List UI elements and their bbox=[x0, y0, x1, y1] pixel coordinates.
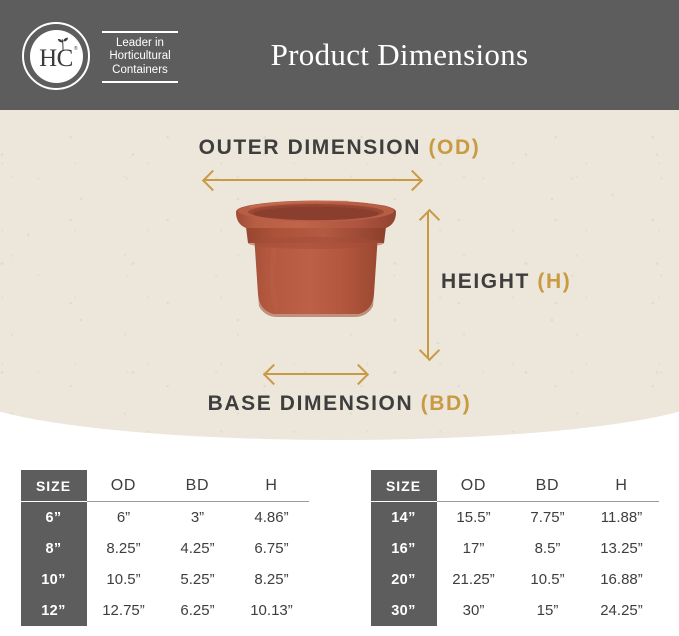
column-header-size: SIZE bbox=[21, 470, 87, 502]
table-row: 30”30”15”24.25” bbox=[371, 595, 659, 626]
height-arrow-icon bbox=[418, 212, 438, 358]
table-cell: 16.88” bbox=[585, 564, 659, 595]
table-row: 8”8.25”4.25”6.75” bbox=[21, 533, 309, 564]
table-cell: 6.75” bbox=[235, 533, 309, 564]
outer-dimension-arrow-icon bbox=[205, 170, 420, 190]
table-cell: 7.75” bbox=[511, 502, 585, 534]
row-size-label: 10” bbox=[21, 564, 87, 595]
table-cell: 10.5” bbox=[511, 564, 585, 595]
table-cell: 15.5” bbox=[437, 502, 511, 534]
column-header-od: OD bbox=[87, 470, 161, 502]
height-label: HEIGHT (H) bbox=[441, 270, 571, 294]
column-header-od: OD bbox=[437, 470, 511, 502]
brand-logo: HC ® Leader in Horticultural Containers bbox=[22, 22, 178, 90]
product-dimensions-infographic: HC ® Leader in Horticultural Containers bbox=[0, 0, 679, 636]
base-dimension-code: (BD) bbox=[421, 392, 472, 415]
table-cell: 8.5” bbox=[511, 533, 585, 564]
table-row: 6”6”3”4.86” bbox=[21, 502, 309, 534]
column-header-size: SIZE bbox=[371, 470, 437, 502]
base-dimension-text: BASE DIMENSION bbox=[208, 392, 414, 415]
table-cell: 17” bbox=[437, 533, 511, 564]
height-code: (H) bbox=[537, 270, 571, 293]
height-text: HEIGHT bbox=[441, 270, 530, 293]
table-cell: 10.5” bbox=[87, 564, 161, 595]
header-bar: HC ® Leader in Horticultural Containers bbox=[0, 0, 679, 110]
table-row: 12”12.75”6.25”10.13” bbox=[21, 595, 309, 626]
table-row: 20”21.25”10.5”16.88” bbox=[371, 564, 659, 595]
row-size-label: 20” bbox=[371, 564, 437, 595]
row-size-label: 12” bbox=[21, 595, 87, 626]
column-header-h: H bbox=[235, 470, 309, 502]
hc-logo-icon: HC ® bbox=[22, 22, 90, 90]
table-cell: 6.25” bbox=[161, 595, 235, 626]
row-size-label: 14” bbox=[371, 502, 437, 534]
column-header-bd: BD bbox=[511, 470, 585, 502]
tagline-line-2: Horticultural bbox=[109, 50, 170, 64]
table-cell: 3” bbox=[161, 502, 235, 534]
table-cell: 30” bbox=[437, 595, 511, 626]
row-size-label: 6” bbox=[21, 502, 87, 534]
dimension-table-large-sizes: SIZEODBDH14”15.5”7.75”11.88”16”17”8.5”13… bbox=[371, 470, 659, 626]
tagline-line-1: Leader in bbox=[109, 37, 170, 51]
table-cell: 4.86” bbox=[235, 502, 309, 534]
row-size-label: 30” bbox=[371, 595, 437, 626]
table-cell: 6” bbox=[87, 502, 161, 534]
planter-pot-illustration bbox=[228, 198, 404, 358]
leaf-sprout-icon bbox=[55, 37, 71, 51]
table-header-row: SIZEODBDH bbox=[371, 470, 659, 502]
table-cell: 11.88” bbox=[585, 502, 659, 534]
outer-dimension-label: OUTER DIMENSION (OD) bbox=[0, 136, 679, 160]
table-cell: 21.25” bbox=[437, 564, 511, 595]
table-cell: 8.25” bbox=[87, 533, 161, 564]
table-cell: 15” bbox=[511, 595, 585, 626]
table-cell: 10.13” bbox=[235, 595, 309, 626]
row-size-label: 16” bbox=[371, 533, 437, 564]
table-cell: 8.25” bbox=[235, 564, 309, 595]
row-size-label: 8” bbox=[21, 533, 87, 564]
table-row: 10”10.5”5.25”8.25” bbox=[21, 564, 309, 595]
base-dimension-arrow-icon bbox=[266, 364, 366, 384]
table-cell: 4.25” bbox=[161, 533, 235, 564]
registered-mark-icon: ® bbox=[74, 46, 78, 52]
outer-dimension-code: (OD) bbox=[428, 136, 480, 159]
table-header-row: SIZEODBDH bbox=[21, 470, 309, 502]
tagline-line-3: Containers bbox=[109, 64, 170, 78]
column-header-h: H bbox=[585, 470, 659, 502]
column-header-bd: BD bbox=[161, 470, 235, 502]
table-row: 16”17”8.5”13.25” bbox=[371, 533, 659, 564]
brand-tagline: Leader in Horticultural Containers bbox=[102, 29, 178, 83]
table-cell: 13.25” bbox=[585, 533, 659, 564]
brand-rule-bottom bbox=[102, 81, 178, 83]
table-cell: 5.25” bbox=[161, 564, 235, 595]
table-cell: 24.25” bbox=[585, 595, 659, 626]
table-cell: 12.75” bbox=[87, 595, 161, 626]
outer-dimension-text: OUTER DIMENSION bbox=[199, 136, 421, 159]
table-row: 14”15.5”7.75”11.88” bbox=[371, 502, 659, 534]
dimension-tables: SIZEODBDH6”6”3”4.86”8”8.25”4.25”6.75”10”… bbox=[0, 470, 679, 626]
base-dimension-label: BASE DIMENSION (BD) bbox=[0, 392, 679, 416]
dimension-table-small-sizes: SIZEODBDH6”6”3”4.86”8”8.25”4.25”6.75”10”… bbox=[21, 470, 309, 626]
